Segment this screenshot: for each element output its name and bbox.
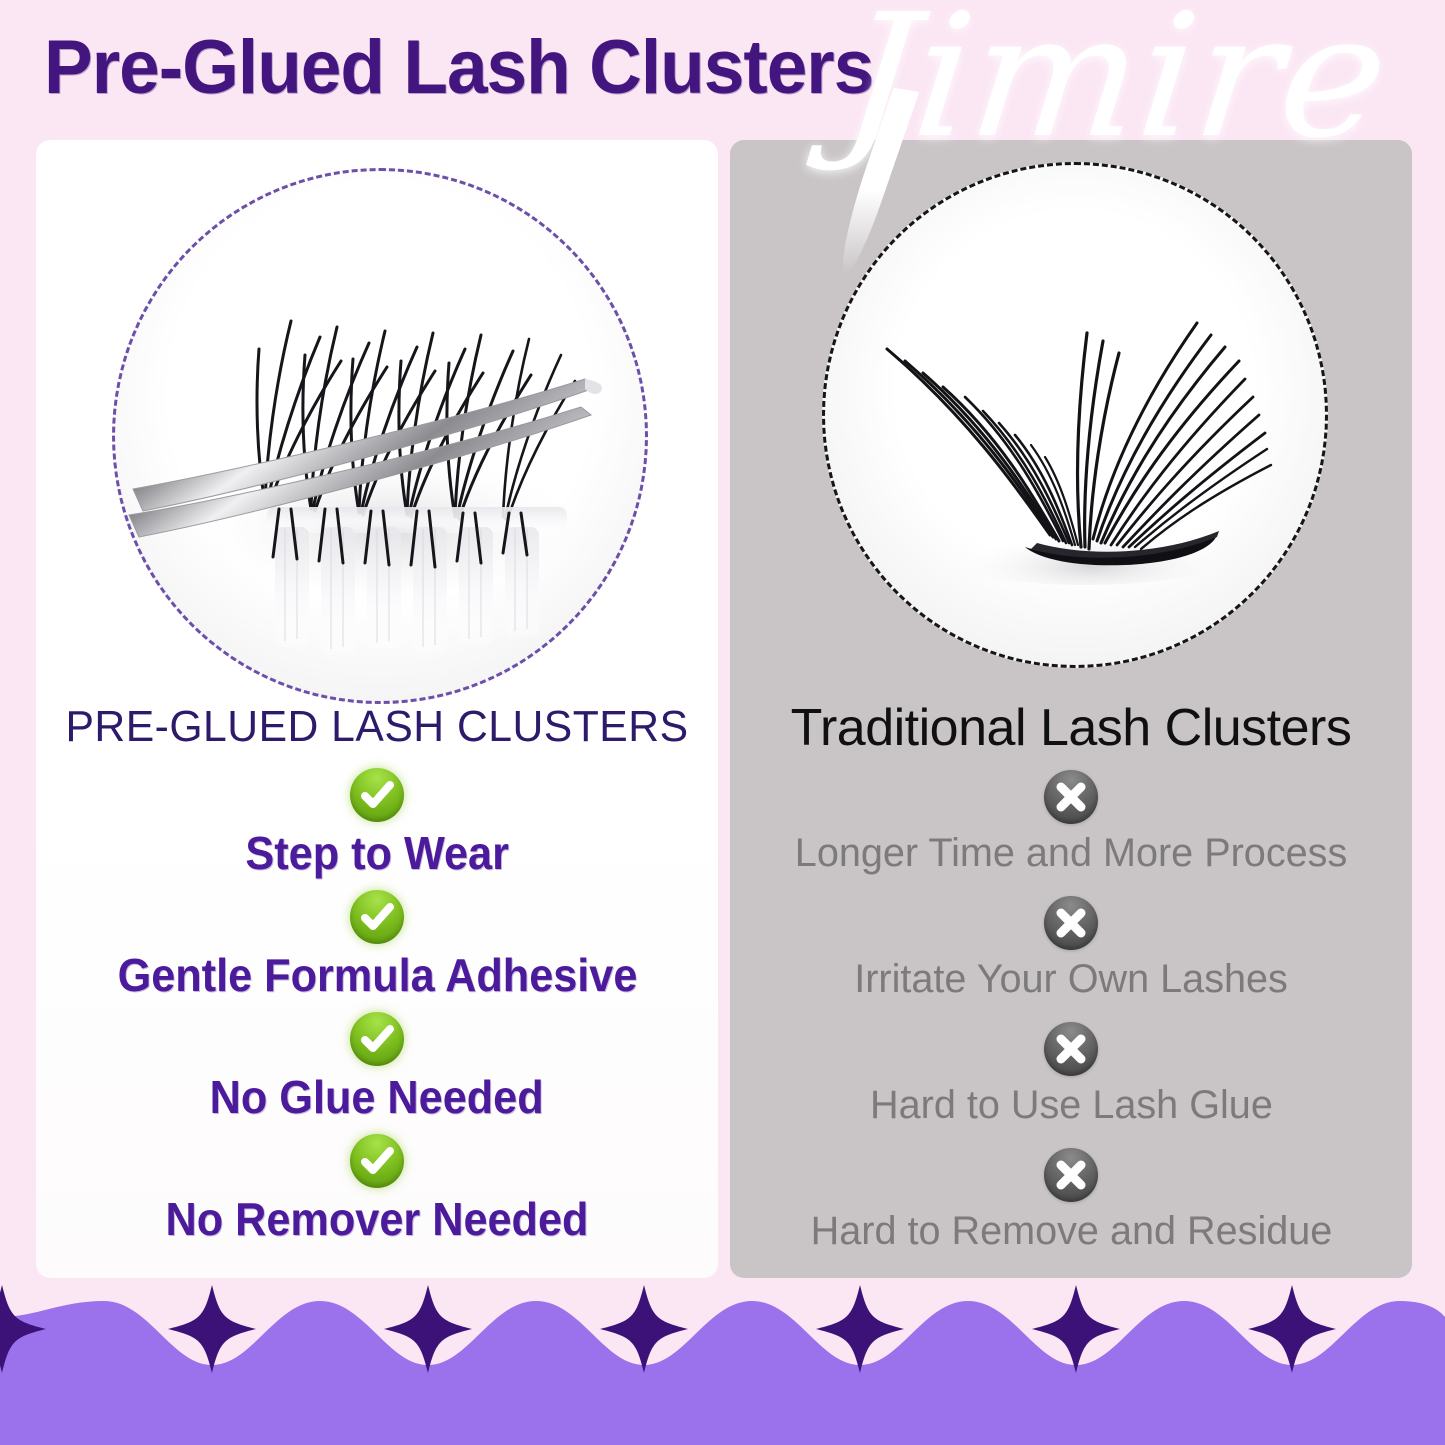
poster-header: Pre-Glued Lash Clusters Jimire (0, 0, 1445, 132)
check-circle-icon (350, 1134, 404, 1188)
panel-pre-glued: PRE-GLUED LASH CLUSTERS Step to Wear (36, 140, 718, 1278)
panel-traditional: Traditional Lash Clusters Longer Time an… (730, 140, 1412, 1278)
feature-label: Step to Wear (245, 822, 508, 884)
feature-item: Step to Wear (36, 768, 718, 884)
check-circle-icon (350, 1012, 404, 1066)
feature-item: Longer Time and More Process (730, 770, 1412, 882)
feature-item: Irritate Your Own Lashes (730, 896, 1412, 1008)
feature-label: No Glue Needed (210, 1066, 544, 1128)
feature-item: No Glue Needed (36, 1012, 718, 1128)
feature-label: No Remover Needed (166, 1188, 589, 1250)
cross-circle-icon (1044, 1148, 1098, 1202)
traditional-lash-photo (825, 165, 1325, 665)
pre-glued-heading: PRE-GLUED LASH CLUSTERS (46, 702, 708, 752)
page-title: Pre-Glued Lash Clusters (44, 22, 873, 114)
feature-label: Hard to Use Lash Glue (870, 1076, 1273, 1134)
cross-circle-icon (1044, 896, 1098, 950)
feature-item: Hard to Use Lash Glue (730, 1022, 1412, 1134)
feature-item: No Remover Needed (36, 1134, 718, 1250)
pre-glued-photo-circle (112, 168, 648, 704)
traditional-heading: Traditional Lash Clusters (730, 698, 1412, 758)
feature-item: Hard to Remove and Residue (730, 1148, 1412, 1260)
pre-glued-feature-list: Step to Wear Gentle Formula Adhesive (36, 768, 718, 1256)
cross-circle-icon (1044, 1022, 1098, 1076)
check-circle-icon (350, 768, 404, 822)
cross-circle-icon (1044, 770, 1098, 824)
feature-item: Gentle Formula Adhesive (36, 890, 718, 1006)
pre-glued-lash-photo (115, 171, 645, 701)
product-comparison-poster: Pre-Glued Lash Clusters Jimire (0, 0, 1445, 1445)
traditional-feature-list: Longer Time and More Process Irritate Yo… (730, 770, 1412, 1274)
feature-label: Irritate Your Own Lashes (854, 950, 1288, 1008)
comparison-panels: PRE-GLUED LASH CLUSTERS Step to Wear (0, 132, 1445, 1280)
feature-label: Hard to Remove and Residue (810, 1202, 1332, 1260)
feature-label: Longer Time and More Process (795, 824, 1347, 882)
traditional-photo-circle (822, 162, 1328, 668)
check-circle-icon (350, 890, 404, 944)
footer-wave-decoration (0, 1255, 1445, 1445)
feature-label: Gentle Formula Adhesive (117, 944, 637, 1006)
